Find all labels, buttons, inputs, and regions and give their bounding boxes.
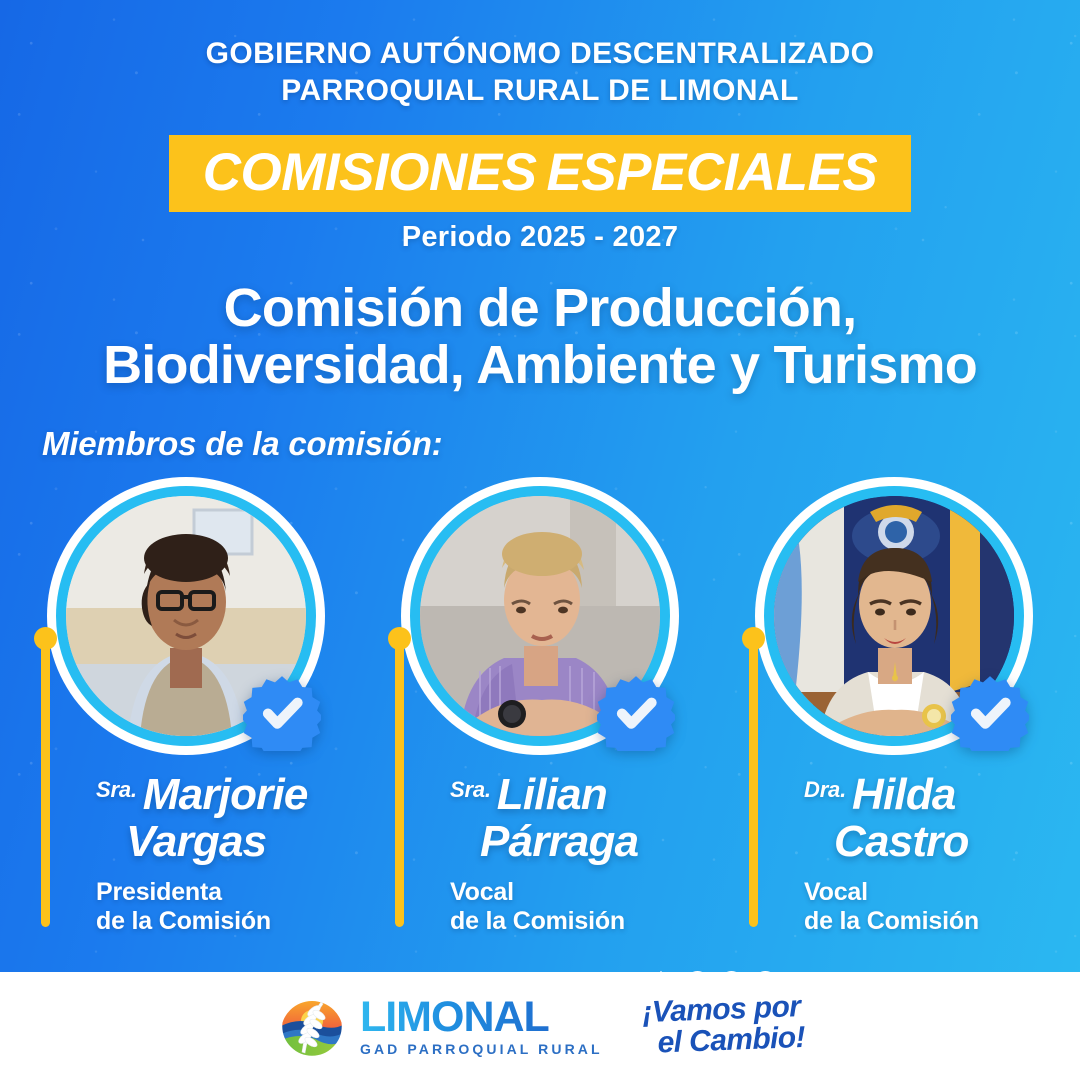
avatar [47, 477, 325, 755]
member-role-line-1: Vocal [450, 878, 705, 907]
limonal-logo: LIMONAL GAD PARROQUIAL RURAL [276, 990, 603, 1062]
member-names: Dra.Hilda Castro Vocal de la Comisión [729, 773, 1059, 937]
page-title-line-2: Biodiversidad, Ambiente y Turismo [0, 337, 1080, 394]
logo-subtitle: GAD PARROQUIAL RURAL [360, 1042, 603, 1056]
limonal-emblem-icon [276, 990, 348, 1062]
member-role-line-2: de la Comisión [96, 907, 351, 936]
member-last-name: Vargas [96, 819, 351, 865]
members-label: Miembros de la comisión: [42, 425, 1080, 463]
footer-bar: LIMONAL GAD PARROQUIAL RURAL ¡Vamos por … [0, 972, 1080, 1080]
member-role-line-2: de la Comisión [450, 907, 705, 936]
member-honorific: Sra. [96, 777, 137, 802]
avatar [401, 477, 679, 755]
periodo-label: Periodo 2025 - 2027 [0, 221, 1080, 254]
page-title-line-1: Comisión de Producción, [0, 280, 1080, 337]
member-role: Vocal de la Comisión [804, 878, 1059, 936]
member-honorific: Sra. [450, 777, 491, 802]
yellow-accent-bar [41, 637, 50, 927]
member-card: Dra.Hilda Castro Vocal de la Comisión [729, 477, 1059, 937]
member-honorific: Dra. [804, 777, 846, 802]
avatar [755, 477, 1033, 755]
member-first-name: Hilda [852, 770, 956, 819]
members-list: Sra.Marjorie Vargas Presidenta de la Com… [0, 477, 1080, 937]
slogan-line-2: el Cambio! [643, 1023, 805, 1060]
member-last-name: Castro [804, 819, 1059, 865]
member-name-line: Dra.Hilda [804, 773, 1059, 817]
institution-line-2: PARROQUIAL RURAL DE LIMONAL [0, 73, 1080, 110]
member-role: Presidenta de la Comisión [96, 878, 351, 936]
banner-word-1: COMISIONES [203, 143, 537, 202]
slogan: ¡Vamos por el Cambio! [642, 992, 806, 1059]
institution-line-1: GOBIERNO AUTÓNOMO DESCENTRALIZADO [0, 36, 1080, 73]
member-names: Sra.Marjorie Vargas Presidenta de la Com… [21, 773, 351, 937]
verified-badge-icon [597, 673, 675, 751]
member-role-line-1: Vocal [804, 878, 1059, 907]
comisiones-banner: COMISIONESESPECIALES [169, 135, 911, 212]
member-name-line: Sra.Lilian [450, 773, 705, 817]
limonal-wordmark: LIMONAL GAD PARROQUIAL RURAL [360, 996, 603, 1056]
verified-badge-icon [243, 673, 321, 751]
member-last-name: Párraga [450, 819, 705, 865]
member-first-name: Marjorie [143, 770, 308, 819]
logo-word: LIMONAL [360, 993, 549, 1041]
yellow-accent-bar [395, 637, 404, 927]
banner-word-2: ESPECIALES [546, 143, 877, 202]
member-role-line-2: de la Comisión [804, 907, 1059, 936]
page-title: Comisión de Producción, Biodiversidad, A… [0, 280, 1080, 394]
member-card: Sra.Lilian Párraga Vocal de la Comisión [375, 477, 705, 937]
yellow-accent-bar [749, 637, 758, 927]
member-name-line: Sra.Marjorie [96, 773, 351, 817]
member-names: Sra.Lilian Párraga Vocal de la Comisión [375, 773, 705, 937]
poster-content: GOBIERNO AUTÓNOMO DESCENTRALIZADO PARROQ… [0, 0, 1080, 1015]
institution-header: GOBIERNO AUTÓNOMO DESCENTRALIZADO PARROQ… [0, 0, 1080, 109]
poster: GOBIERNO AUTÓNOMO DESCENTRALIZADO PARROQ… [0, 0, 1080, 1080]
banner-wrap: COMISIONESESPECIALES [0, 135, 1080, 212]
verified-badge-icon [951, 673, 1029, 751]
member-role: Vocal de la Comisión [450, 878, 705, 936]
member-first-name: Lilian [497, 770, 607, 819]
member-role-line-1: Presidenta [96, 878, 351, 907]
member-card: Sra.Marjorie Vargas Presidenta de la Com… [21, 477, 351, 937]
